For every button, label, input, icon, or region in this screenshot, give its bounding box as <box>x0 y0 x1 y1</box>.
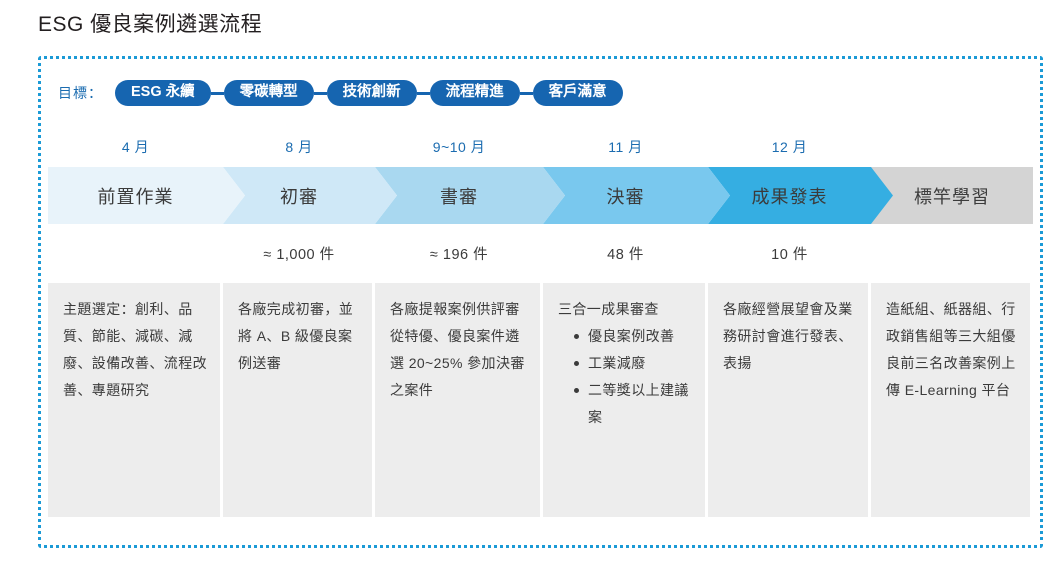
stage-count-row: ≈ 1,000 件≈ 196 件48 件10 件 <box>48 243 1033 264</box>
month-label-4: 11 月 <box>543 137 708 157</box>
stage-detail-text-1: 主題選定：創利、品質、節能、減碳、減廢、設備改善、流程改善、專題研究 <box>63 296 207 404</box>
stage-bullet-4-1: 優良案例改善 <box>574 323 692 350</box>
stage-name-1: 前置作業 <box>98 183 174 209</box>
stage-count-2: ≈ 1,000 件 <box>223 243 375 264</box>
stage-detail-text-6: 造紙組、紙器組、行政銷售組等三大組優良前三名改善案例上傳 E-Learning … <box>886 296 1017 404</box>
stage-panel-2: 各廠完成初審，並將 A、B 級優良案例送審 <box>223 283 372 517</box>
infographic-page: ESG 優良案例遴選流程 目標： ESG 永續 零碳轉型 技術創新 流程精進 客… <box>0 0 1063 561</box>
stage-count-1 <box>48 243 223 264</box>
stage-panel-5: 各廠經營展望會及業務研討會進行發表、表揚 <box>708 283 868 517</box>
stage-name-3: 書審 <box>440 183 478 209</box>
goal-pill-5: 客戶滿意 <box>533 80 623 106</box>
goal-pill-4: 流程精進 <box>430 80 520 106</box>
page-title: ESG 優良案例遴選流程 <box>38 8 262 38</box>
stage-panel-1: 主題選定：創利、品質、節能、減碳、減廢、設備改善、流程改善、專題研究 <box>48 283 220 517</box>
stage-chevron-5: 成果發表 <box>708 167 893 224</box>
goal-pill-2: 零碳轉型 <box>224 80 314 106</box>
stage-chevron-1: 前置作業 <box>48 167 245 224</box>
month-label-2: 8 月 <box>223 137 375 157</box>
stage-detail-text-4: 三合一成果審查 <box>558 296 692 323</box>
stage-chevron-6: 標竿學習 <box>871 167 1033 224</box>
stage-detail-text-2: 各廠完成初審，並將 A、B 級優良案例送審 <box>238 296 359 377</box>
stage-bullet-4-3: 二等獎以上建議案 <box>574 377 692 431</box>
pill-connector-2 <box>314 92 327 95</box>
pill-connector-3 <box>417 92 430 95</box>
stage-count-3: ≈ 196 件 <box>375 243 543 264</box>
month-label-row: 4 月8 月9~10 月11 月12 月 <box>48 137 1033 157</box>
stage-count-6 <box>871 243 1033 264</box>
goal-row: 目標： ESG 永續 零碳轉型 技術創新 流程精進 客戶滿意 <box>58 80 623 106</box>
stage-name-2: 初審 <box>280 183 318 209</box>
stage-panel-6: 造紙組、紙器組、行政銷售組等三大組優良前三名改善案例上傳 E-Learning … <box>871 283 1030 517</box>
stage-detail-panels: 主題選定：創利、品質、節能、減碳、減廢、設備改善、流程改善、專題研究各廠完成初審… <box>48 283 1033 517</box>
stage-detail-text-5: 各廠經營展望會及業務研討會進行發表、表揚 <box>723 296 855 377</box>
pill-connector-4 <box>520 92 533 95</box>
stage-chevron-4: 決審 <box>543 167 730 224</box>
month-label-5: 12 月 <box>708 137 871 157</box>
stage-chevron-2: 初審 <box>223 167 397 224</box>
goal-label: 目標： <box>58 83 103 103</box>
stage-name-6: 標竿學習 <box>914 183 990 209</box>
stage-count-5: 10 件 <box>708 243 871 264</box>
stage-chevron-band: 前置作業初審書審決審成果發表標竿學習 <box>48 167 1033 224</box>
stage-panel-3: 各廠提報案例供評審從特優、優良案件遴選 20~25% 參加決審之案件 <box>375 283 540 517</box>
stage-chevron-3: 書審 <box>375 167 565 224</box>
month-label-6 <box>871 137 1033 157</box>
pill-connector-1 <box>211 92 224 95</box>
stage-count-4: 48 件 <box>543 243 708 264</box>
stage-bullet-4-2: 工業減廢 <box>574 350 692 377</box>
month-label-3: 9~10 月 <box>375 137 543 157</box>
goal-pill-1: ESG 永續 <box>115 80 211 106</box>
month-label-1: 4 月 <box>48 137 223 157</box>
stage-name-5: 成果發表 <box>752 183 828 209</box>
goal-pill-3: 技術創新 <box>327 80 417 106</box>
stage-panel-4: 三合一成果審查優良案例改善工業減廢二等獎以上建議案 <box>543 283 705 517</box>
stage-bullet-list-4: 優良案例改善工業減廢二等獎以上建議案 <box>558 323 692 431</box>
stage-name-4: 決審 <box>607 183 645 209</box>
stage-detail-text-3: 各廠提報案例供評審從特優、優良案件遴選 20~25% 參加決審之案件 <box>390 296 527 404</box>
